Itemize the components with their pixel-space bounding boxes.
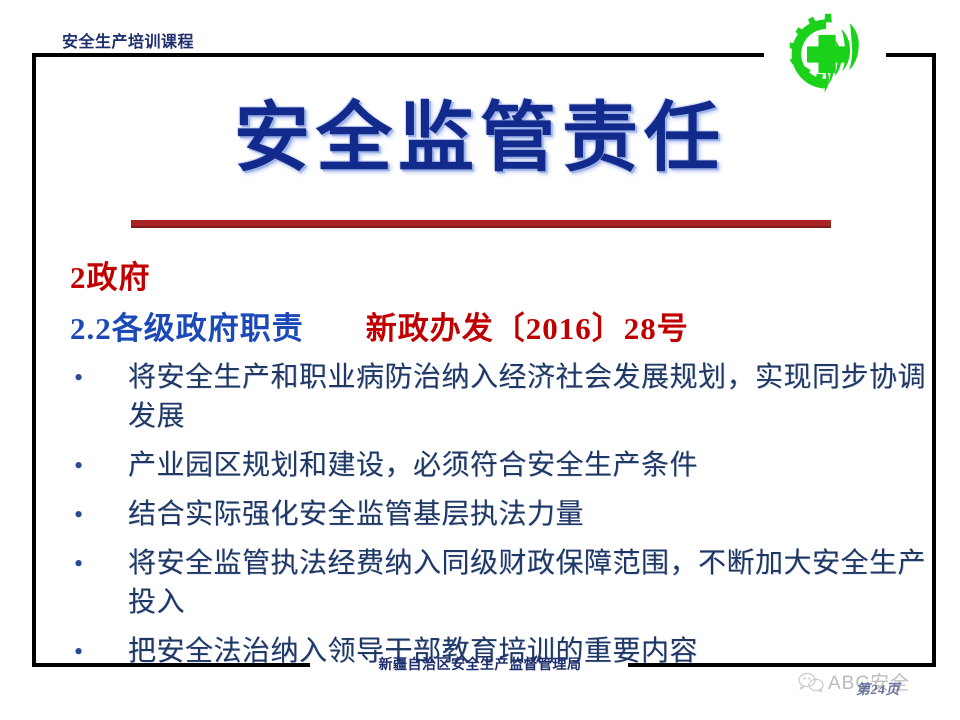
list-item-text: 产业园区规划和建设，必须符合安全生产条件	[128, 446, 926, 485]
list-item: • 将安全监管执法经费纳入同级财政保障范围，不断加大安全生产投入	[66, 544, 926, 622]
bullet-dot-icon: •	[66, 358, 128, 397]
section-heading: 2政府	[70, 252, 151, 297]
slide-canvas: 安全生产培训课程	[0, 0, 960, 720]
safety-production-logo-icon	[780, 8, 878, 100]
subsection-heading: 2.2各级政府职责	[70, 303, 304, 348]
page-number: 第24页	[856, 679, 900, 699]
list-item-text: 将安全生产和职业病防治纳入经济社会发展规划，实现同步协调发展	[128, 358, 926, 436]
list-item: • 将安全生产和职业病防治纳入经济社会发展规划，实现同步协调发展	[66, 358, 926, 436]
list-item: • 结合实际强化安全监管基层执法力量	[66, 495, 926, 534]
frame-top-edge-right	[886, 53, 936, 57]
bullet-dot-icon: •	[66, 495, 128, 534]
page-title: 安全监管责任	[0, 98, 960, 182]
subsection-heading-row: 2.2各级政府职责 新政办发〔2016〕28号	[70, 303, 689, 348]
course-title: 安全生产培训课程	[62, 28, 194, 52]
bullet-dot-icon: •	[66, 544, 128, 583]
list-item-text: 将安全监管执法经费纳入同级财政保障范围，不断加大安全生产投入	[128, 544, 926, 622]
bullet-dot-icon: •	[66, 446, 128, 485]
title-divider	[131, 220, 831, 228]
bullet-list: • 将安全生产和职业病防治纳入经济社会发展规划，实现同步协调发展 • 产业园区规…	[66, 358, 926, 681]
wechat-icon	[798, 672, 824, 692]
list-item-text: 结合实际强化安全监管基层执法力量	[128, 495, 926, 534]
frame-top-edge-left	[32, 53, 764, 57]
document-number: 新政办发〔2016〕28号	[366, 303, 689, 348]
list-item: • 产业园区规划和建设，必须符合安全生产条件	[66, 446, 926, 485]
